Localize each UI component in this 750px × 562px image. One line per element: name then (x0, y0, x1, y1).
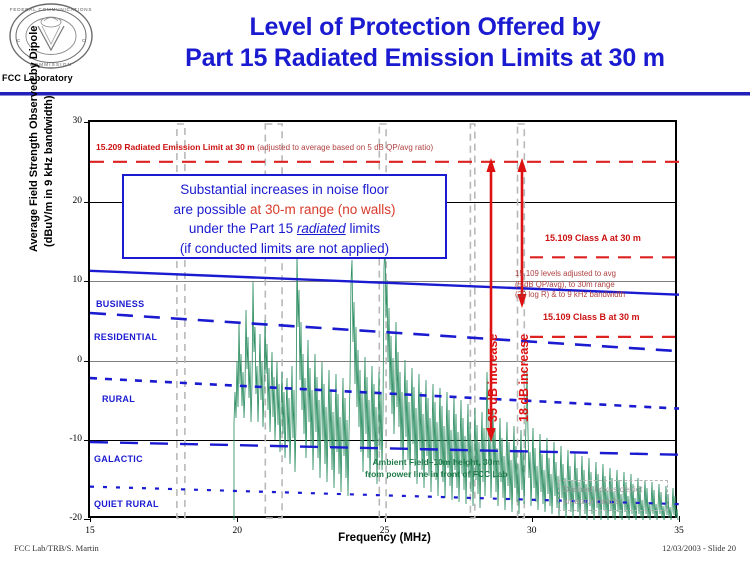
adjustment-note: 15.109 levels adjusted to avg (5 dB QP/a… (515, 269, 625, 301)
ambient-field-note-line1: Ambient Field–10m height, 30m (365, 457, 508, 469)
adjustment-note-line3: (20 log R) & to 9 kHz bandwidth (515, 290, 625, 301)
arrow-18db-label: 18 dB increase (517, 334, 531, 422)
y-tick-0: 0 (48, 355, 82, 365)
callout-line3-a: under the Part 15 (189, 221, 297, 236)
svg-text:FEDERAL COMMUNICATIONS: FEDERAL COMMUNICATIONS (10, 7, 92, 12)
class-a-label: 15.109 Class A at 30 m (545, 233, 641, 243)
adjustment-note-line1: 15.109 levels adjusted to avg (515, 269, 625, 280)
label-galactic: GALACTIC (94, 454, 143, 464)
fcc-seal-icon: FEDERAL COMMUNICATIONS COMMISSION C C (8, 2, 94, 70)
limit-15209-bold: 15.209 Radiated Emission Limit at 30 m (96, 142, 255, 152)
chart-plot-area: Average Field Strength Observed by Dipol… (88, 120, 677, 518)
amateur-bands-note: Dashed boxes depict amateur bands (558, 480, 668, 511)
svg-text:C: C (17, 38, 20, 43)
label-residential: RESIDENTIAL (94, 332, 157, 342)
seal-label: FCC Laboratory (2, 73, 102, 83)
series-rural (90, 378, 679, 409)
class-b-label: 15.109 Class B at 30 m (543, 312, 640, 322)
y-tick-m10: -10 (48, 434, 82, 444)
footer-left: FCC Lab/TRB/S. Martin (14, 543, 99, 553)
slide-header: FEDERAL COMMUNICATIONS COMMISSION C C FC… (0, 0, 750, 95)
label-quiet-rural: QUIET RURAL (94, 499, 159, 509)
amateur-bands-note-line1: Dashed boxes depict (563, 484, 663, 496)
x-axis-label: Frequency (MHz) (90, 532, 679, 544)
callout-line2: are possible at 30-m range (no walls) (124, 200, 445, 220)
callout-line1: Substantial increases in noise floor (124, 180, 445, 200)
arrow-35db-label: 35 dB increase (486, 334, 500, 422)
amateur-bands-note-line2: amateur bands (563, 496, 663, 508)
y-tick-20: 20 (48, 196, 82, 206)
callout-line3-b: radiated (297, 221, 346, 236)
callout-box: Substantial increases in noise floor are… (122, 174, 447, 259)
label-business: BUSINESS (96, 299, 144, 309)
callout-line3: under the Part 15 radiated limits (124, 219, 445, 239)
page-title: Level of Protection Offered by Part 15 R… (110, 12, 740, 74)
label-rural: RURAL (102, 394, 135, 404)
y-tick-10: 10 (48, 275, 82, 285)
callout-line2-b: at 30-m range (no walls) (250, 202, 396, 217)
series-galactic (90, 442, 679, 455)
limit-15209-label: 15.209 Radiated Emission Limit at 30 m (… (96, 142, 433, 152)
callout-line2-a: are possible (173, 202, 250, 217)
ambient-field-note-line2: from power line in front of FCC Lab (365, 469, 508, 481)
adjustment-note-line2: (5 dB QP/avg), to 30m range (515, 280, 625, 291)
y-axis-label-line1: Average Field Strength Observed by Dipol… (28, 26, 40, 252)
callout-line4: (if conducted limits are not applied) (124, 239, 445, 259)
callout-line3-c: limits (346, 221, 381, 236)
y-tick-m20: -20 (48, 513, 82, 523)
y-tick-30: 30 (48, 116, 82, 126)
header-divider-light (0, 95, 750, 96)
page-title-line1: Level of Protection Offered by (110, 12, 740, 43)
limit-15209-sub: (adjusted to average based on 5 dB QP/av… (257, 143, 433, 152)
page-title-line2: Part 15 Radiated Emission Limits at 30 m (110, 43, 740, 74)
ambient-field-note: Ambient Field–10m height, 30m from power… (365, 457, 508, 480)
footer-right: 12/03/2003 - Slide 20 (662, 543, 736, 553)
svg-text:C: C (82, 38, 85, 43)
